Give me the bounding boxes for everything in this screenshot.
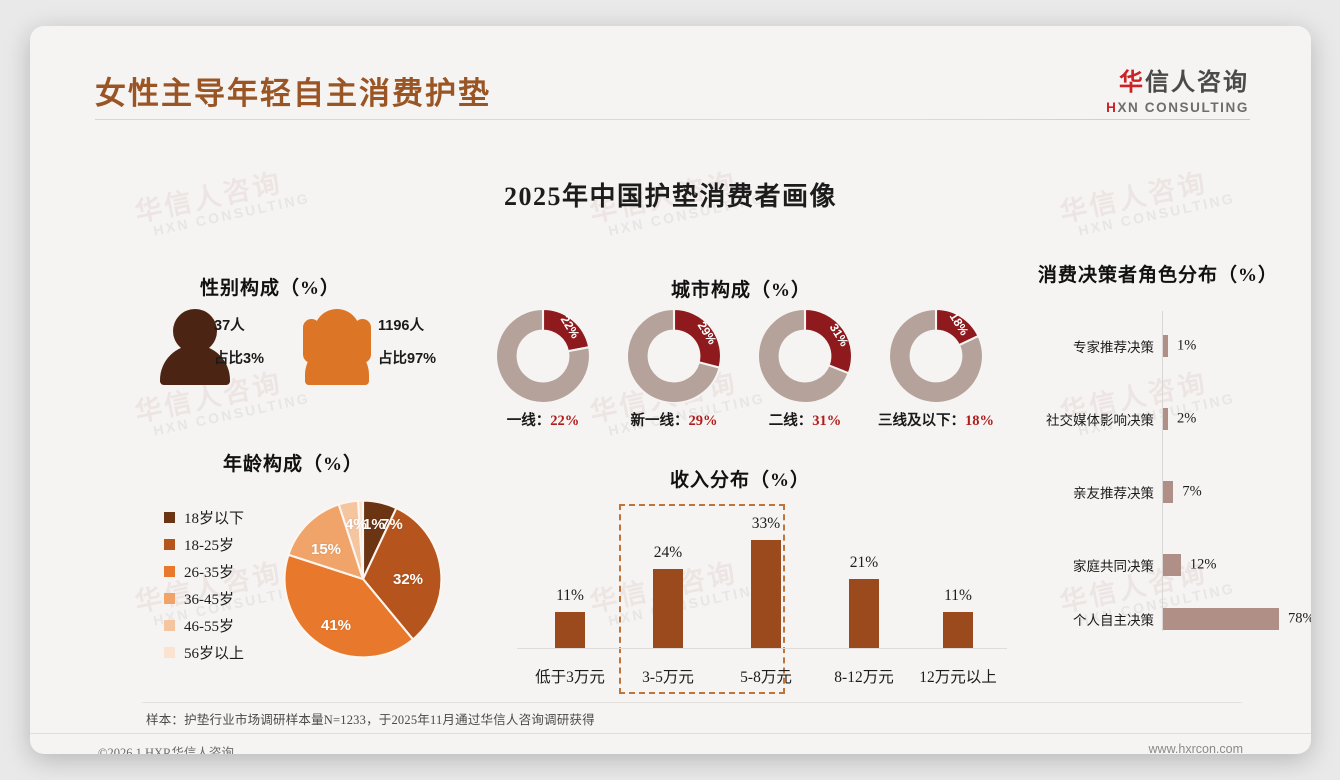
age-legend-label: 26-35岁 [184,561,234,582]
logo-english-red: H [1106,100,1117,115]
income-bar-category: 低于3万元 [535,665,605,687]
role-bar-label: 亲友推荐决策 [1073,482,1154,502]
city-caption-name: 三线及以下： [878,413,965,429]
age-panel-title: 年龄构成（%） [223,449,363,476]
slide-card: 华信人咨询HXN CONSULTING华信人咨询HXN CONSULTING华信… [30,26,1311,754]
female-share: 占比97% [378,347,436,368]
income-bar-column: 33%5-8万元 [718,498,814,693]
role-bar-value: 78% [1288,611,1311,628]
page-title: 女性主导年轻自主消费护垫 [95,68,491,113]
age-pie-label: 41% [321,617,351,634]
footer-divider [30,733,1311,734]
age-legend-swatch [164,539,175,550]
income-bar [943,612,973,648]
city-donut-ring: 31%二线：31% [758,309,852,403]
city-donut-caption: 二线：31% [769,409,842,430]
city-caption-name: 二线： [769,413,813,429]
income-panel-title: 收入分布（%） [670,465,810,492]
city-donut: 22%一线：22% [496,309,590,403]
note-divider [142,702,1242,703]
income-bar-category: 5-8万元 [740,665,792,687]
logo-english: HXN CONSULTING [1106,100,1249,115]
income-bar-category: 8-12万元 [834,665,893,687]
age-legend-swatch [164,512,175,523]
gender-female-icon [300,309,374,385]
income-bar-column: 11%12万元以上 [910,498,1006,693]
city-caption-value: 31% [812,413,841,429]
income-bar [849,579,879,648]
role-bar [1163,554,1181,576]
age-legend-label: 36-45岁 [184,588,234,609]
income-bar-value: 24% [654,544,682,562]
income-bar [751,540,781,648]
age-pie-label: 1% [363,516,385,533]
logo-chinese-red: 华 [1119,69,1145,96]
male-share: 占比3% [214,347,264,368]
income-bar-chart: 11%低于3万元24%3-5万元33%5-8万元21%8-12万元11%12万元… [517,498,1007,693]
female-count: 1196人 [378,314,424,335]
city-donut-ring: 29%新一线：29% [627,309,721,403]
income-bar-category: 12万元以上 [919,665,997,687]
income-bar-value: 21% [850,554,878,572]
role-bar-value: 7% [1182,484,1201,501]
sample-note: 样本：护垫行业市场调研样本量N=1233，于2025年11月通过华信人咨询调研获… [146,709,595,728]
age-legend-label: 46-55岁 [184,615,234,636]
city-donut-ring: 22%一线：22% [496,309,590,403]
age-legend-swatch [164,566,175,577]
income-bar-value: 11% [944,587,972,605]
role-bar-row: 社交媒体影响决策2% [1030,406,1311,432]
role-bar [1163,335,1168,357]
age-legend-swatch [164,620,175,631]
income-bar [555,612,585,648]
city-donut-svg [889,309,983,403]
logo-chinese-rest: 信人咨询 [1145,69,1249,96]
age-legend: 18岁以下18-25岁26-35岁36-45岁46-55岁56岁以上 [164,504,244,666]
role-bar [1163,408,1168,430]
age-legend-label: 18-25岁 [184,534,234,555]
city-donut-caption: 三线及以下：18% [878,409,994,430]
age-legend-swatch [164,647,175,658]
age-pie-label: 32% [393,571,423,588]
role-bar-row: 家庭共同决策12% [1030,552,1311,578]
role-bar-row: 专家推荐决策1% [1030,333,1311,359]
income-bar [653,569,683,648]
age-legend-item: 46-55岁 [164,612,244,639]
age-legend-item: 18-25岁 [164,531,244,558]
income-bar-column: 24%3-5万元 [620,498,716,693]
role-bar-label: 个人自主决策 [1073,609,1154,629]
role-bar-value: 2% [1177,411,1196,428]
age-legend-item: 26-35岁 [164,558,244,585]
income-bar-column: 11%低于3万元 [522,498,618,693]
income-bar-value: 11% [556,587,584,605]
age-pie-label: 15% [311,541,341,558]
role-bar-chart: 专家推荐决策1%社交媒体影响决策2%亲友推荐决策7%家庭共同决策12%个人自主决… [1030,311,1311,641]
gender-panel-title: 性别构成（%） [200,273,340,300]
city-caption-name: 新一线： [631,413,689,429]
male-count: 37人 [214,314,245,335]
role-bar-value: 12% [1190,557,1217,574]
age-legend-item: 36-45岁 [164,585,244,612]
role-panel-title: 消费决策者角色分布（%） [1038,260,1278,287]
logo-english-rest: XN CONSULTING [1117,100,1249,115]
header-divider [95,119,1250,120]
role-bar [1163,481,1173,503]
city-caption-value: 29% [689,413,718,429]
role-bar-value: 1% [1177,338,1196,355]
company-logo: 华信人咨询 HXN CONSULTING [1106,62,1249,115]
role-axis-line [1162,311,1163,631]
city-donut: 29%新一线：29% [627,309,721,403]
age-legend-item: 18岁以下 [164,504,244,531]
age-legend-label: 56岁以上 [184,642,244,663]
role-bar-row: 个人自主决策78% [1030,606,1311,632]
city-donut-caption: 新一线：29% [631,409,718,430]
city-donut: 31%二线：31% [758,309,852,403]
city-donut: 18%三线及以下：18% [889,309,983,403]
role-bar [1163,608,1279,630]
income-bar-category: 3-5万元 [642,665,694,687]
role-bar-row: 亲友推荐决策7% [1030,479,1311,505]
role-bar-label: 专家推荐决策 [1073,336,1154,356]
copyright-text: ©2026.1 HXR华信人咨询 [98,742,234,754]
city-caption-value: 22% [550,413,579,429]
age-legend-item: 56岁以上 [164,639,244,666]
city-panel-title: 城市构成（%） [671,275,811,302]
city-donut-ring: 18%三线及以下：18% [889,309,983,403]
income-bar-value: 33% [752,515,780,533]
age-legend-swatch [164,593,175,604]
income-bar-column: 21%8-12万元 [816,498,912,693]
website-text: www.hxrcon.com [1149,742,1243,754]
main-title: 2025年中国护垫消费者画像 [30,176,1311,213]
city-donut-caption: 一线：22% [507,409,580,430]
city-caption-value: 18% [965,413,994,429]
logo-chinese: 华信人咨询 [1106,62,1249,97]
role-bar-label: 社交媒体影响决策 [1046,409,1154,429]
age-legend-label: 18岁以下 [184,507,244,528]
role-bar-label: 家庭共同决策 [1073,555,1154,575]
city-caption-name: 一线： [507,413,551,429]
